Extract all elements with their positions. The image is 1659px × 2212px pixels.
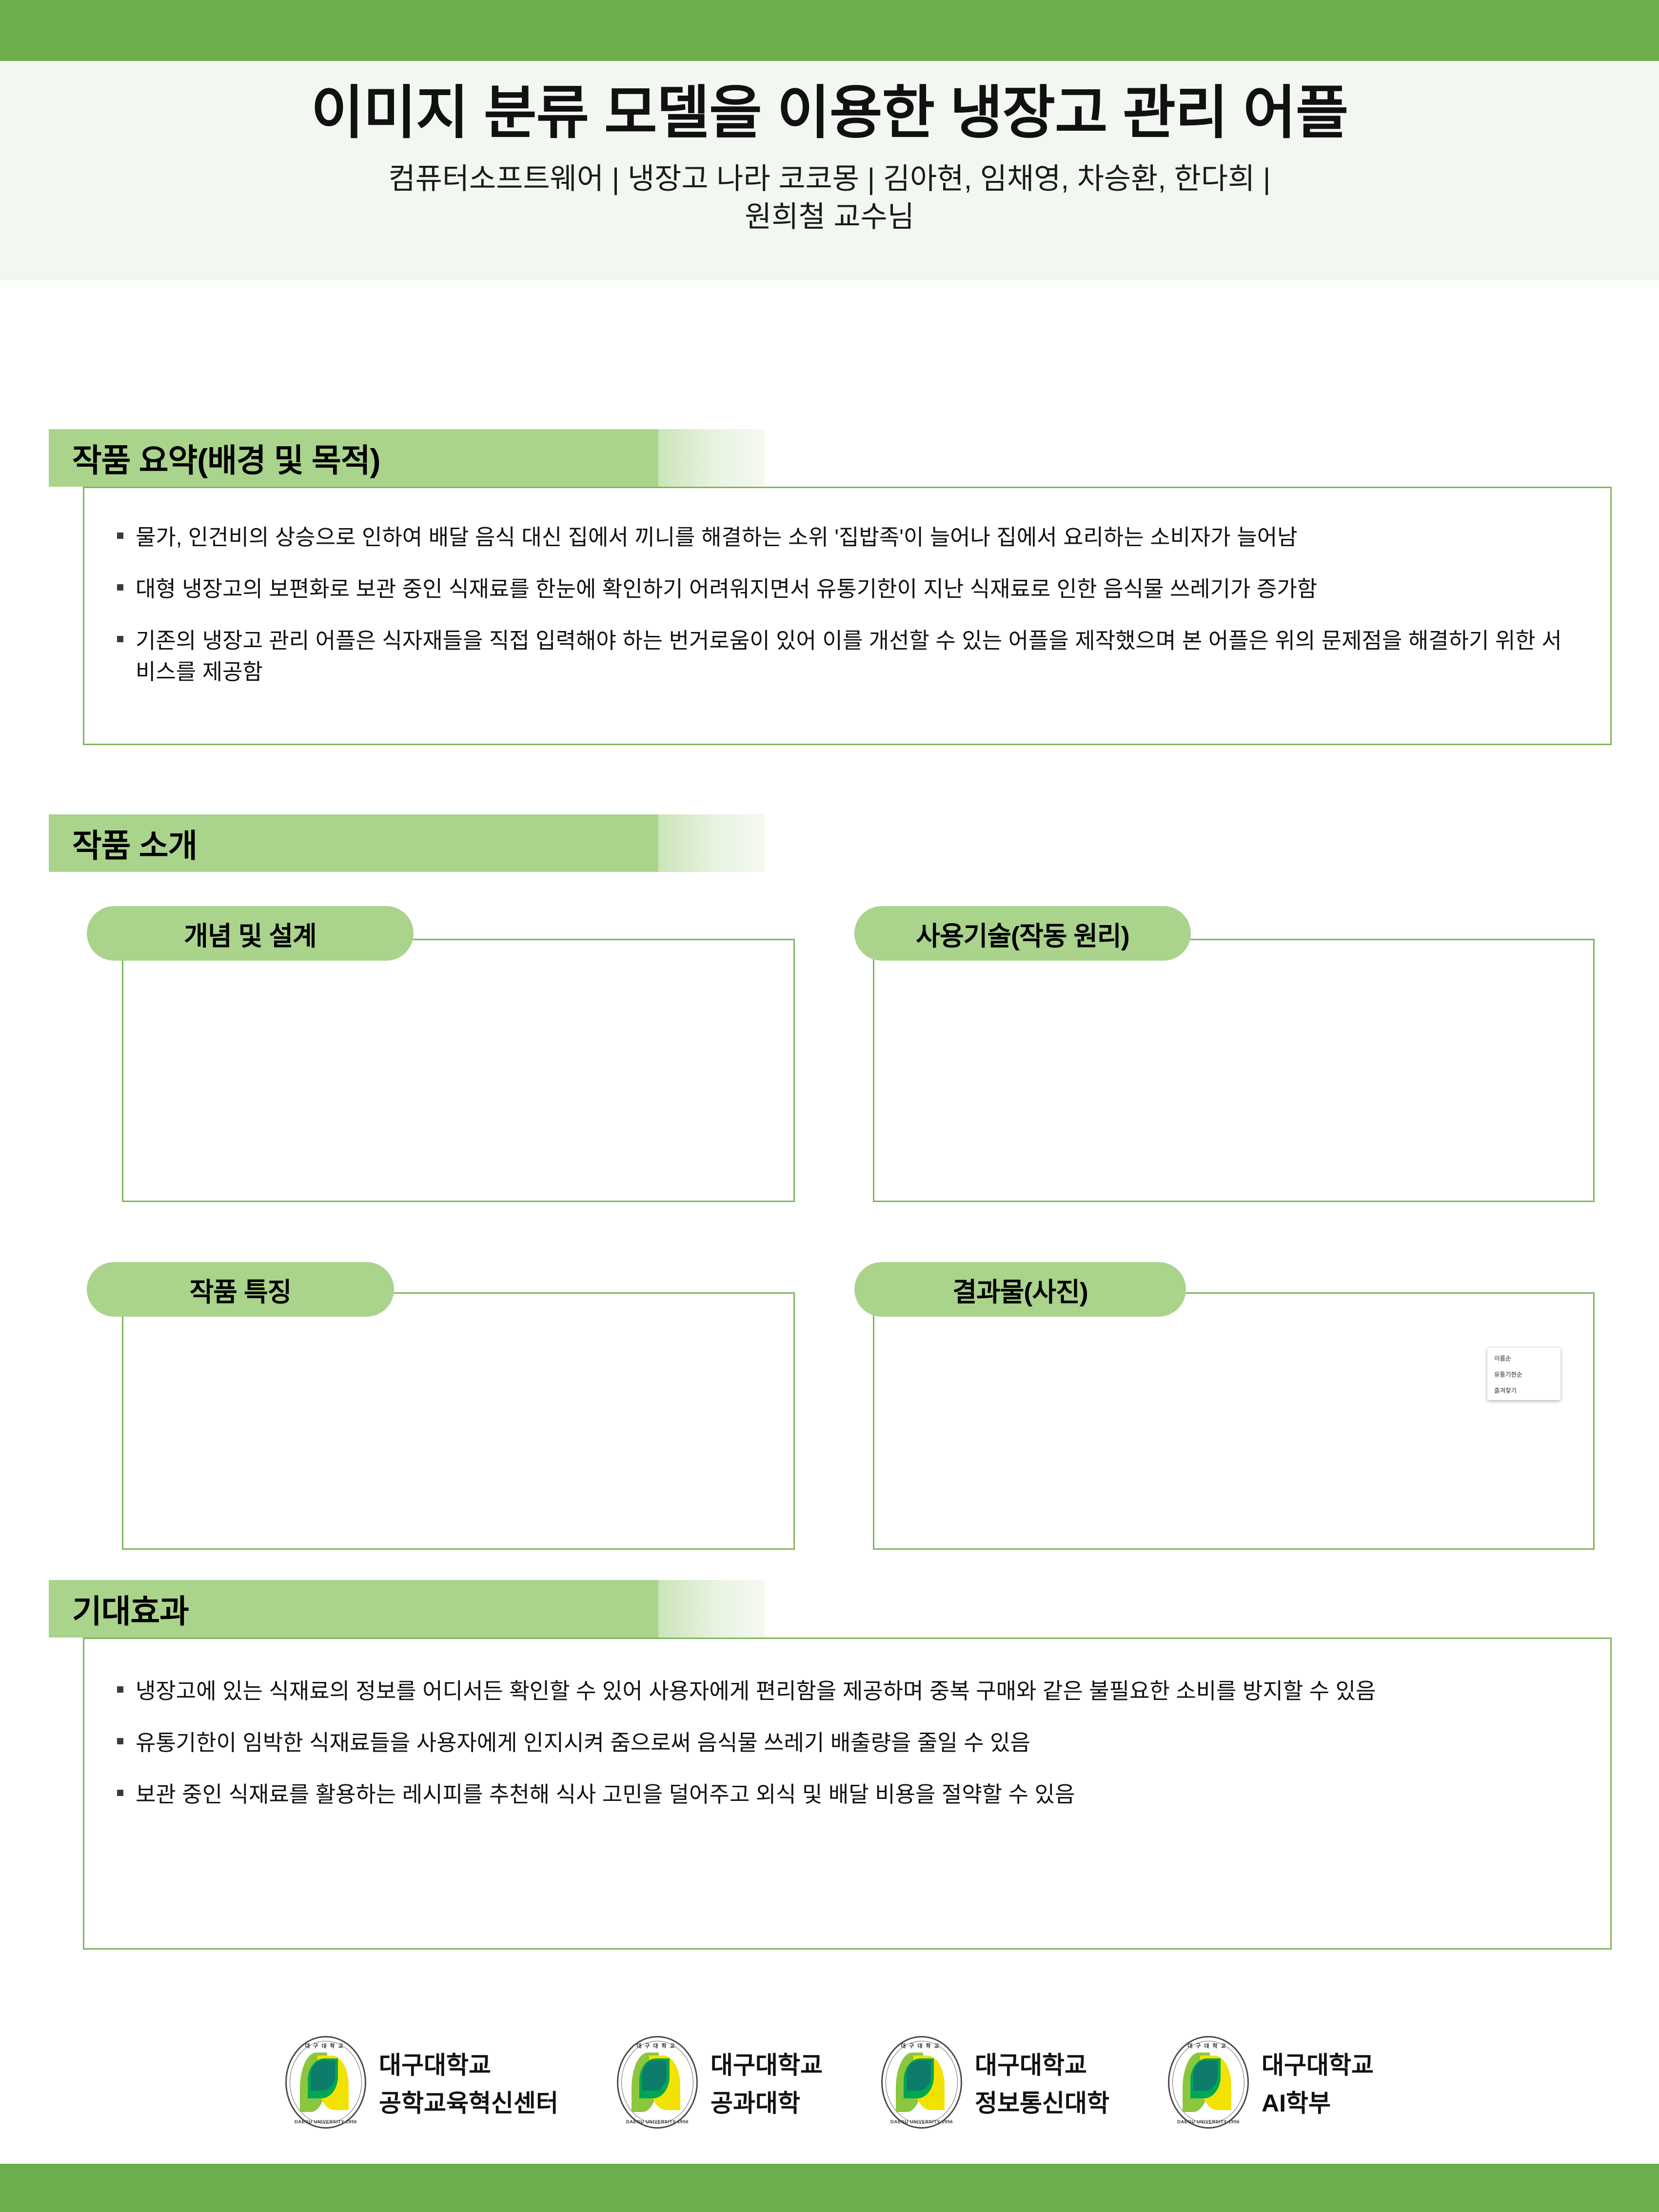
summary-heading-fade — [658, 429, 765, 487]
summary-bullet: 물가, 인건비의 상승으로 인하여 배달 음식 대신 집에서 끼니를 해결하는 … — [113, 522, 1581, 553]
logo-line-2: 공학교육혁신센터 — [379, 2084, 558, 2119]
seal-bottom-text: DAEGU UNIVERSITY 1956 — [617, 2119, 698, 2125]
university-seal: 대구대학교 DAEGU UNIVERSITY 1956 — [1168, 2036, 1249, 2129]
seal-emblem-icon — [300, 2051, 352, 2114]
features-pill: 작품 특징 — [87, 1262, 394, 1317]
seal-bottom-text: DAEGU UNIVERSITY 1956 — [881, 2119, 962, 2125]
logo-text: 대구대학교 AI학부 — [1262, 2046, 1374, 2119]
seal-bottom-text: DAEGU UNIVERSITY 1956 — [1168, 2119, 1249, 2125]
concept-pill-label: 개념 및 설계 — [184, 914, 316, 953]
seal-emblem-icon — [1183, 2051, 1234, 2114]
logo-line-2: AI학부 — [1262, 2084, 1374, 2119]
effects-heading-label: 기대효과 — [49, 1585, 189, 1632]
sort-option-favorite[interactable]: 즐겨찾기 — [1487, 1382, 1560, 1398]
features-pill-label: 작품 특징 — [190, 1270, 292, 1309]
intro-heading-label: 작품 소개 — [49, 820, 197, 867]
seal-emblem-icon — [632, 2051, 683, 2114]
summary-bullets: 물가, 인건비의 상승으로 인하여 배달 음식 대신 집에서 끼니를 해결하는 … — [113, 522, 1581, 708]
effects-heading-bar: 기대효과 — [49, 1580, 1614, 1638]
logo-line-2: 정보통신대학 — [975, 2084, 1109, 2119]
sort-option-name[interactable]: 이름순 — [1487, 1350, 1560, 1366]
logo-unit-innovation-center: 대구대학교 DAEGU UNIVERSITY 1956 대구대학교 공학교육혁신… — [285, 2036, 558, 2129]
seal-top-text: 대구대학교 — [881, 2042, 962, 2050]
intro-heading-bar: 작품 소개 — [49, 814, 1614, 872]
tech-box — [873, 939, 1595, 1202]
seal-emblem-icon — [896, 2051, 948, 2114]
bottom-green-band — [0, 2164, 1659, 2212]
features-box — [122, 1292, 795, 1550]
section-intro: 작품 소개 — [49, 814, 1614, 872]
poster-subtitle: 컴퓨터소프트웨어 | 냉장고 나라 코코몽 | 김아현, 임채영, 차승환, 한… — [388, 160, 1270, 236]
subtitle-line-2: 원희철 교수님 — [388, 198, 1270, 236]
concept-box — [122, 939, 795, 1202]
top-green-band — [0, 0, 1659, 61]
footer-logos: 대구대학교 DAEGU UNIVERSITY 1956 대구대학교 공학교육혁신… — [0, 2009, 1659, 2155]
summary-bullet: 대형 냉장고의 보편화로 보관 중인 식재료를 한눈에 확인하기 어려워지면서 … — [113, 573, 1581, 605]
section-summary: 작품 요약(배경 및 목적) 물가, 인건비의 상승으로 인하여 배달 음식 대… — [49, 429, 1614, 487]
section-effects: 기대효과 냉장고에 있는 식재료의 정보를 어디서든 확인할 수 있어 사용자에… — [49, 1580, 1614, 1638]
seal-top-text: 대구대학교 — [1168, 2042, 1249, 2050]
effects-bullets: 냉장고에 있는 식재료의 정보를 어디서든 확인할 수 있어 사용자에게 편리함… — [113, 1676, 1581, 1831]
summary-bullet: 기존의 냉장고 관리 어플은 식자재들을 직접 입력해야 하는 번거로움이 있어… — [113, 625, 1581, 688]
logo-text: 대구대학교 공학교육혁신센터 — [379, 2046, 558, 2119]
effects-heading-fade — [658, 1580, 765, 1638]
logo-unit-engineering-college: 대구대학교 DAEGU UNIVERSITY 1956 대구대학교 공과대학 — [617, 2036, 823, 2129]
results-pill-label: 결과물(사진) — [952, 1270, 1087, 1309]
results-pill: 결과물(사진) — [854, 1262, 1186, 1317]
effect-bullet: 냉장고에 있는 식재료의 정보를 어디서든 확인할 수 있어 사용자에게 편리함… — [113, 1676, 1581, 1707]
poster-header: 이미지 분류 모델을 이용한 냉장고 관리 어플 컴퓨터소프트웨어 | 냉장고 … — [0, 61, 1659, 280]
effect-bullet: 보관 중인 식재료를 활용하는 레시피를 추천해 식사 고민을 덜어주고 외식 … — [113, 1779, 1581, 1810]
university-seal: 대구대학교 DAEGU UNIVERSITY 1956 — [617, 2036, 698, 2129]
subtitle-line-1: 컴퓨터소프트웨어 | 냉장고 나라 코코몽 | 김아현, 임채영, 차승환, 한… — [388, 160, 1270, 198]
effect-bullet: 유통기한이 임박한 식재료들을 사용자에게 인지시켜 줌으로써 음식물 쓰레기 … — [113, 1727, 1581, 1758]
logo-line-1: 대구대학교 — [975, 2046, 1109, 2081]
summary-heading-bar: 작품 요약(배경 및 목적) — [49, 429, 1614, 487]
logo-text: 대구대학교 정보통신대학 — [975, 2046, 1109, 2119]
page-title: 이미지 분류 모델을 이용한 냉장고 관리 어플 — [311, 79, 1348, 147]
logo-line-1: 대구대학교 — [711, 2046, 823, 2081]
logo-line-1: 대구대학교 — [1262, 2046, 1374, 2081]
tech-pill: 사용기술(작동 원리) — [854, 906, 1191, 961]
logo-unit-ai-department: 대구대학교 DAEGU UNIVERSITY 1956 대구대학교 AI학부 — [1168, 2036, 1374, 2129]
logo-line-1: 대구대학교 — [379, 2046, 558, 2081]
logo-line-2: 공과대학 — [711, 2084, 823, 2119]
university-seal: 대구대학교 DAEGU UNIVERSITY 1956 — [881, 2036, 962, 2129]
summary-heading-label: 작품 요약(배경 및 목적) — [49, 434, 380, 481]
results-box — [873, 1292, 1595, 1550]
intro-heading-fade — [658, 814, 765, 872]
seal-bottom-text: DAEGU UNIVERSITY 1956 — [285, 2119, 366, 2125]
logo-unit-ict-college: 대구대학교 DAEGU UNIVERSITY 1956 대구대학교 정보통신대학 — [881, 2036, 1109, 2129]
concept-pill: 개념 및 설계 — [87, 906, 414, 961]
tech-pill-label: 사용기술(작동 원리) — [916, 914, 1129, 953]
sort-option-expiry[interactable]: 유통기한순 — [1487, 1366, 1560, 1382]
sort-dropdown-menu: 이름순 유통기한순 즐겨찾기 — [1487, 1348, 1560, 1400]
logo-text: 대구대학교 공과대학 — [711, 2046, 823, 2119]
university-seal: 대구대학교 DAEGU UNIVERSITY 1956 — [285, 2036, 366, 2129]
seal-top-text: 대구대학교 — [285, 2042, 366, 2050]
seal-top-text: 대구대학교 — [617, 2042, 698, 2050]
